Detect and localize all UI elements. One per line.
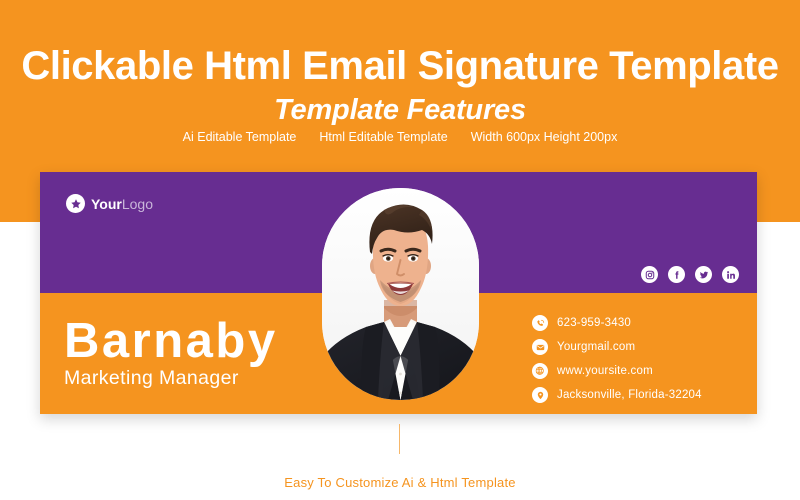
contact-list: 623-959-3430 Yourgmail.com: [532, 315, 702, 403]
feature-list: Ai Editable Template Html Editable Templ…: [0, 129, 800, 145]
contact-value-email: Yourgmail.com: [557, 340, 635, 354]
brand-logo-your: Your: [91, 196, 122, 212]
contact-value-address: Jacksonville, Florida-32204: [557, 388, 702, 402]
social-links: [641, 266, 739, 283]
feature-item-size: Width 600px Height 200px: [471, 129, 618, 145]
email-signature-card: YourLogo: [40, 172, 757, 414]
linkedin-icon[interactable]: [722, 266, 739, 283]
envelope-icon: [532, 339, 548, 355]
footer-caption: Easy To Customize Ai & Html Template: [0, 474, 800, 491]
phone-icon: [532, 315, 548, 331]
page-title: Clickable Html Email Signature Template: [0, 40, 800, 92]
instagram-icon[interactable]: [641, 266, 658, 283]
brand-logo[interactable]: YourLogo: [66, 194, 153, 213]
contact-row-address[interactable]: Jacksonville, Florida-32204: [532, 387, 702, 403]
page-subtitle: Template Features: [0, 92, 800, 128]
signature-template-page: Clickable Html Email Signature Template …: [0, 0, 800, 500]
feature-item-html: Html Editable Template: [319, 129, 447, 145]
footer-divider: [399, 424, 400, 454]
identity-block: Barnaby Marketing Manager: [64, 314, 278, 390]
contact-value-website: www.yoursite.com: [557, 364, 653, 378]
contact-row-website[interactable]: www.yoursite.com: [532, 363, 702, 379]
globe-icon: [532, 363, 548, 379]
star-badge-icon: [66, 194, 85, 213]
brand-logo-label: YourLogo: [91, 196, 153, 212]
avatar: [322, 188, 479, 400]
brand-logo-logo: Logo: [122, 196, 153, 212]
feature-item-ai: Ai Editable Template: [183, 129, 297, 145]
person-name: Barnaby: [64, 314, 278, 368]
person-role: Marketing Manager: [64, 366, 278, 390]
facebook-icon[interactable]: [668, 266, 685, 283]
twitter-icon[interactable]: [695, 266, 712, 283]
location-icon: [532, 387, 548, 403]
contact-row-phone[interactable]: 623-959-3430: [532, 315, 702, 331]
contact-row-email[interactable]: Yourgmail.com: [532, 339, 702, 355]
contact-value-phone: 623-959-3430: [557, 316, 631, 330]
